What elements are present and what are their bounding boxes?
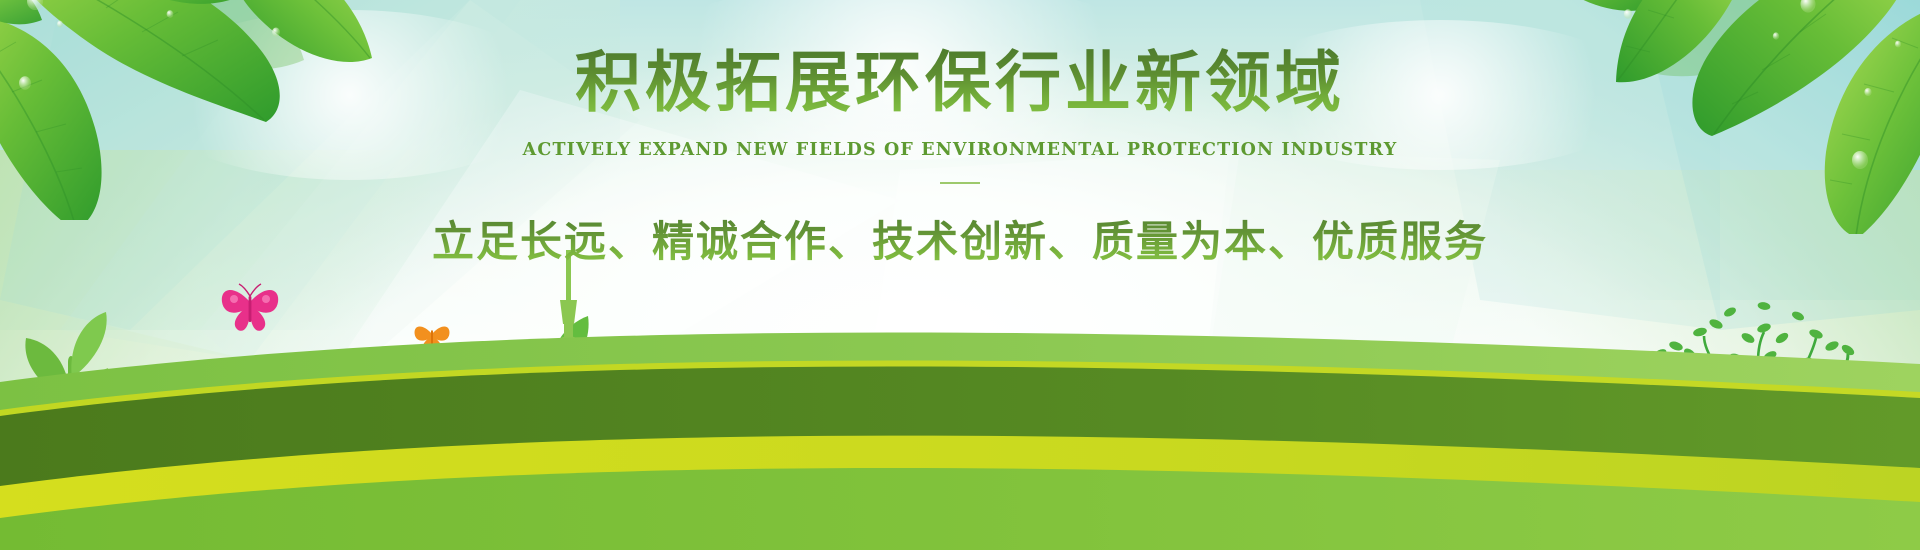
company-tagline: 立足长远、精诚合作、技术创新、质量为本、优质服务 <box>0 208 1920 269</box>
eco-banner: 积极拓展环保行业新领域 ACTIVELY EXPAND NEW FIELDS O… <box>0 0 1920 550</box>
subtitle-english: ACTIVELY EXPAND NEW FIELDS OF ENVIRONMEN… <box>0 140 1920 160</box>
title-divider <box>940 182 980 184</box>
wave-bands <box>0 320 1920 550</box>
banner-text-block: 积极拓展环保行业新领域 ACTIVELY EXPAND NEW FIELDS O… <box>0 46 1920 269</box>
page-title: 积极拓展环保行业新领域 <box>0 46 1920 120</box>
